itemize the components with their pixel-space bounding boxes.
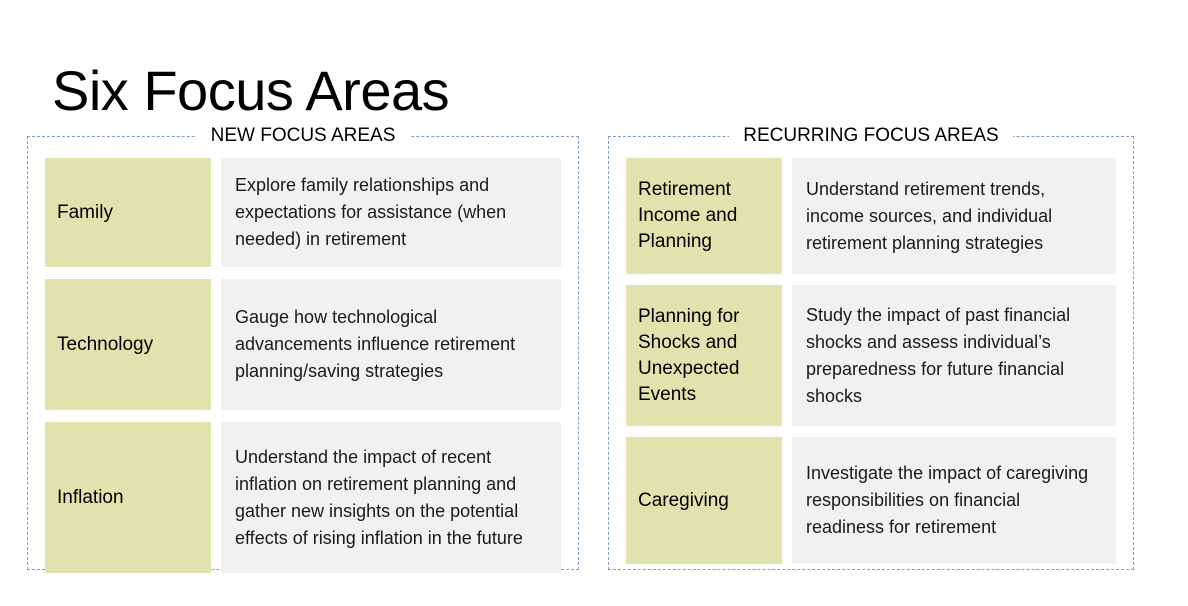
row-gap [626, 274, 1116, 285]
focus-area-label-family: Family [45, 158, 211, 267]
cell-spacer [211, 158, 221, 267]
focus-area-label-inflation: Inflation [45, 422, 211, 573]
focus-area-label-caregiving: Caregiving [626, 437, 782, 564]
focus-area-list-new: Family Explore family relationships and … [28, 137, 578, 569]
page-title: Six Focus Areas [52, 60, 449, 122]
focus-area-row: Family Explore family relationships and … [45, 158, 561, 267]
focus-area-description-caregiving: Investigate the impact of caregiving res… [792, 437, 1116, 564]
cell-spacer [782, 158, 792, 274]
focus-area-row: Planning for Shocks and Unexpected Event… [626, 285, 1116, 426]
focus-area-label-technology: Technology [45, 279, 211, 410]
focus-area-row: Inflation Understand the impact of recen… [45, 422, 561, 573]
row-gap [45, 267, 561, 279]
panel-new-focus-areas: NEW FOCUS AREAS Family Explore family re… [27, 136, 579, 570]
focus-area-description-technology: Gauge how technological advancements inf… [221, 279, 561, 410]
focus-area-label-planning-for-shocks-and-unexpected-events: Planning for Shocks and Unexpected Event… [626, 285, 782, 426]
focus-area-row: Technology Gauge how technological advan… [45, 279, 561, 410]
focus-area-description-planning-for-shocks-and-unexpected-events: Study the impact of past financial shock… [792, 285, 1116, 426]
focus-area-list-recurring: Retirement Income and Planning Understan… [609, 137, 1133, 569]
panel-recurring-focus-areas: RECURRING FOCUS AREAS Retirement Income … [608, 136, 1134, 570]
focus-area-description-inflation: Understand the impact of recent inflatio… [221, 422, 561, 573]
row-gap [45, 410, 561, 422]
cell-spacer [211, 279, 221, 410]
focus-area-row: Caregiving Investigate the impact of car… [626, 437, 1116, 564]
cell-spacer [782, 285, 792, 426]
focus-area-description-retirement-income-and-planning: Understand retirement trends, income sou… [792, 158, 1116, 274]
cell-spacer [211, 422, 221, 573]
focus-area-row: Retirement Income and Planning Understan… [626, 158, 1116, 274]
row-gap [626, 426, 1116, 437]
cell-spacer [782, 437, 792, 564]
focus-area-description-family: Explore family relationships and expecta… [221, 158, 561, 267]
focus-area-label-retirement-income-and-planning: Retirement Income and Planning [626, 158, 782, 274]
